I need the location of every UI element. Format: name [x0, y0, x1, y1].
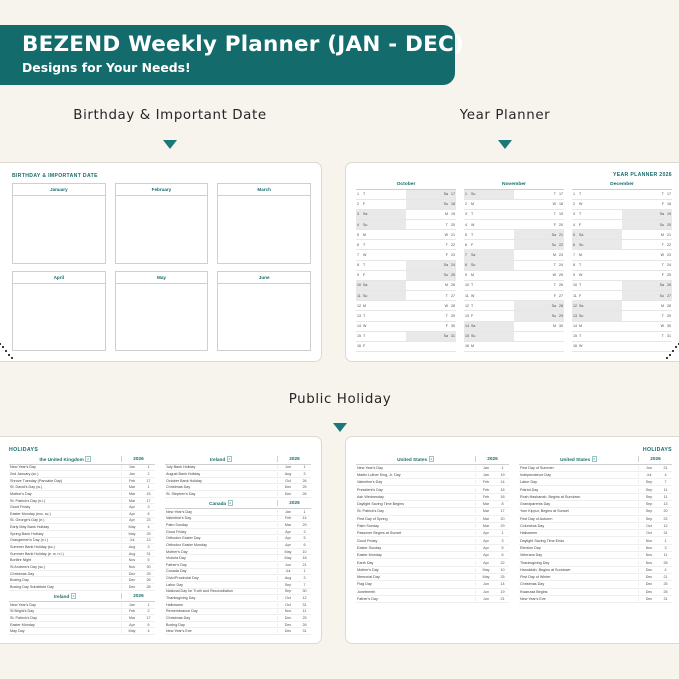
holiday-row[interactable]: Daylight Saving Time BeginsMar8 — [356, 501, 509, 508]
year-planner-day-cell[interactable]: 3T — [464, 210, 514, 219]
holiday-row[interactable]: President's DayFeb16 — [356, 486, 509, 493]
year-planner-day-cell[interactable]: 9F — [356, 271, 406, 280]
day-number: 28 — [556, 304, 563, 308]
year-planner-day-row[interactable]: 3TT19 — [464, 210, 564, 220]
holiday-name: Good Friday — [9, 505, 121, 509]
year-planner-day-cell[interactable]: 11F — [572, 291, 622, 300]
holiday-date: Dec4 — [638, 568, 672, 572]
year-planner-day-row[interactable]: 6TT22 — [356, 240, 456, 250]
year-planner-day-row[interactable]: 13TT29 — [356, 311, 456, 321]
holiday-date: Aug31 — [121, 552, 155, 556]
holiday-month: Feb — [476, 495, 496, 499]
year-planner-day-cell[interactable]: Su20 — [622, 220, 672, 229]
year-planner-day-cell[interactable]: M30 — [514, 322, 564, 331]
holiday-row[interactable]: St. Patrick's Day (n.i.)Mar17 — [9, 498, 155, 505]
holiday-row[interactable]: New Year's DayJan1 — [165, 509, 311, 516]
year-planner-day-row[interactable]: 12MW28 — [356, 301, 456, 311]
holiday-row[interactable]: New Year's EveDec31 — [519, 596, 672, 603]
year-planner-day-cell[interactable]: 6F — [464, 240, 514, 249]
holiday-row[interactable]: July Bank HolidayJun1 — [165, 465, 311, 472]
holiday-month: Jun — [476, 597, 496, 601]
holiday-date: Aug3 — [121, 545, 155, 549]
year-planner-day-cell[interactable]: Su29 — [514, 311, 564, 320]
year-planner-day-cell[interactable]: T27 — [406, 291, 456, 300]
holiday-row[interactable]: New Year's DayJan1 — [9, 465, 155, 472]
holiday-row[interactable]: Labor DaySep7 — [165, 582, 311, 589]
holiday-row[interactable]: St. David's Day (w.)Mar1 — [9, 484, 155, 491]
holidays-table-header: United States42026 — [356, 456, 509, 465]
holiday-day: 31 — [298, 603, 311, 607]
holiday-row[interactable]: HalloweenOct31 — [165, 602, 311, 609]
year-planner-day-cell[interactable]: M23 — [514, 250, 564, 259]
year-planner-day-cell[interactable]: 4Su — [356, 220, 406, 229]
year-planner-day-row[interactable]: 9WF25 — [572, 271, 672, 281]
weekday-abbrev: Sa — [471, 253, 478, 257]
year-planner-day-cell[interactable]: 3Sa — [356, 210, 406, 219]
birthday-month-cell[interactable]: May — [115, 271, 209, 352]
holiday-day: 5 — [496, 546, 509, 550]
year-planner-day-row[interactable]: 15TT31 — [572, 332, 672, 342]
holiday-row[interactable]: New Year's DayJan1 — [9, 602, 155, 609]
holiday-month: Nov — [639, 539, 659, 543]
year-planner-day-cell[interactable]: Su25 — [406, 271, 456, 280]
weekday-abbrev: Su — [363, 223, 370, 227]
year-planner-month-column: December1TT172WF183TSa194FSu205SaM216SuT… — [572, 182, 672, 352]
holiday-day: 6 — [142, 512, 155, 516]
holiday-row[interactable]: Good FridayApr3 — [9, 504, 155, 511]
year-planner-day-row[interactable]: 7SaM23 — [464, 250, 564, 260]
year-planner-day-row[interactable]: 9MW25 — [464, 271, 564, 281]
holiday-row[interactable]: Shrove Tuesday (Pancake Day)Feb17 — [9, 478, 155, 485]
holiday-row[interactable]: Grandparents DaySep13 — [519, 501, 672, 508]
year-planner-day-cell[interactable]: 8T — [572, 261, 622, 270]
year-planner-day-row[interactable]: 5SaM21 — [572, 230, 672, 240]
year-planner-day-row[interactable]: 1TSa17 — [356, 190, 456, 200]
year-planner-day-cell[interactable]: Sa26 — [622, 281, 672, 290]
holiday-row[interactable]: First Day of SummerJun21 — [519, 465, 672, 472]
holiday-row[interactable]: Columbus DayOct12 — [519, 523, 672, 530]
year-planner-day-row[interactable]: 3SaM19 — [356, 210, 456, 220]
year-planner-day-row[interactable]: 12TSa28 — [464, 301, 564, 311]
year-planner-day-row[interactable]: 16W — [572, 342, 672, 352]
year-planner-day-cell[interactable]: T17 — [622, 190, 672, 199]
holiday-date: Apr6 — [475, 553, 509, 557]
holiday-row[interactable]: Yom Kippur, Begins at SunsetSep20 — [519, 508, 672, 515]
year-planner-day-row[interactable]: 4FSu20 — [572, 220, 672, 230]
holiday-date: Feb17 — [121, 479, 155, 483]
year-planner-day-cell[interactable]: 5T — [464, 230, 514, 239]
year-planner-day-row[interactable]: 14MW30 — [572, 322, 672, 332]
holiday-row[interactable]: First Day of WinterDec21 — [519, 574, 672, 581]
holiday-row[interactable]: Patriot DaySep11 — [519, 486, 672, 493]
holiday-row[interactable]: Canada DayJul1 — [165, 569, 311, 576]
holiday-row[interactable]: Ash WednesdayFeb18 — [356, 494, 509, 501]
holiday-row[interactable]: Thanksgiving DayNov26 — [519, 559, 672, 566]
year-planner-day-cell[interactable]: Sa19 — [622, 210, 672, 219]
year-planner-day-cell[interactable]: 15T — [356, 332, 406, 341]
holiday-row[interactable]: Mother's DayMay10 — [165, 549, 311, 556]
weekday-abbrev: Su — [579, 314, 586, 318]
year-planner-day-cell[interactable]: F25 — [622, 271, 672, 280]
holiday-row[interactable]: Orthodox Easter MondayApr6 — [165, 542, 311, 549]
year-planner-day-row[interactable]: 9FSu25 — [356, 271, 456, 281]
year-planner-day-cell[interactable]: 1Su — [464, 190, 514, 199]
year-planner-day-cell[interactable]: W18 — [514, 200, 564, 209]
holiday-name: Remembrance Day — [165, 609, 277, 613]
year-planner-day-cell[interactable]: T24 — [622, 261, 672, 270]
holiday-name: First Day of Summer — [519, 466, 638, 470]
year-planner-day-row[interactable]: 10TSa26 — [572, 281, 672, 291]
year-planner-day-cell[interactable]: 4F — [572, 220, 622, 229]
holiday-date: Nov26 — [638, 561, 672, 565]
year-planner-day-cell[interactable]: 14Sa — [464, 322, 514, 331]
year-planner-day-row[interactable]: 16M — [464, 342, 564, 352]
holiday-name: Kwanzaa Begins — [519, 590, 638, 594]
year-planner-day-cell[interactable]: W21 — [406, 230, 456, 239]
year-planner-day-cell[interactable]: 6T — [356, 240, 406, 249]
year-planner-day-cell[interactable]: 15T — [572, 332, 622, 341]
year-planner-day-cell[interactable]: W28 — [406, 301, 456, 310]
year-planner-day-cell[interactable]: Sa21 — [514, 230, 564, 239]
weekday-abbrev: Su — [363, 294, 370, 298]
holiday-row[interactable]: Earth DayApr22 — [356, 559, 509, 566]
holiday-date: Jan1 — [121, 465, 155, 469]
holiday-row[interactable]: First Day of SpringMar20 — [356, 516, 509, 523]
year-planner-day-cell[interactable]: F27 — [514, 291, 564, 300]
holiday-month: Feb — [122, 609, 142, 613]
year-planner-day-cell[interactable]: 5M — [356, 230, 406, 239]
year-planner-day-row[interactable]: 1TT17 — [572, 190, 672, 200]
holiday-row[interactable]: Father's DayJun21 — [356, 596, 509, 603]
holiday-row[interactable]: Father's DayJun21 — [165, 562, 311, 569]
year-planner-day-row[interactable]: 7MW23 — [572, 250, 672, 260]
holiday-row[interactable]: St. Patrick's DayMar17 — [356, 508, 509, 515]
year-planner-day-cell[interactable]: Su27 — [622, 291, 672, 300]
year-planner-day-cell[interactable]: 8T — [356, 261, 406, 270]
holiday-date: Dec25 — [277, 616, 311, 620]
year-planner-day-cell[interactable]: 13Su — [572, 311, 622, 320]
holiday-row[interactable]: Mother's DayMay10 — [356, 567, 509, 574]
year-planner-day-cell[interactable] — [514, 332, 564, 341]
holiday-row[interactable]: Christmas DayDec25 — [519, 581, 672, 588]
holiday-row[interactable]: May DayMay4 — [9, 628, 155, 635]
holiday-row[interactable]: St. Stephen's DayDec26 — [165, 491, 311, 498]
year-planner-day-cell[interactable]: Su18 — [406, 200, 456, 209]
year-planner-day-cell[interactable]: F18 — [622, 200, 672, 209]
holiday-row[interactable]: Spring Bank HolidayMay25 — [9, 531, 155, 538]
holiday-row[interactable]: Boxing Day Substitute DayDec28 — [9, 584, 155, 591]
holiday-date: Sep20 — [638, 509, 672, 513]
year-planner-day-cell[interactable] — [514, 342, 564, 351]
holiday-row[interactable]: Passover Begins at SunsetApr1 — [356, 530, 509, 537]
birthday-month-cell[interactable]: June — [217, 271, 311, 352]
holiday-row[interactable]: Orthodox Easter DayApr5 — [165, 535, 311, 542]
year-planner-day-cell[interactable]: 1T — [356, 190, 406, 199]
year-planner-day-cell[interactable]: 12Sa — [572, 301, 622, 310]
year-planner-day-row[interactable]: 11SuT27 — [356, 291, 456, 301]
year-planner-day-cell[interactable]: W25 — [514, 271, 564, 280]
year-planner-day-cell[interactable]: 3T — [572, 210, 622, 219]
year-planner-day-cell[interactable]: 13T — [356, 311, 406, 320]
holiday-date: Jan1 — [121, 603, 155, 607]
weekday-abbrev: Sa — [440, 192, 448, 196]
holiday-row[interactable]: Palm SundayMar29 — [356, 523, 509, 530]
year-planner-day-cell[interactable]: 9M — [464, 271, 514, 280]
year-planner-day-cell[interactable]: Sa17 — [406, 190, 456, 199]
year-planner-day-row[interactable]: 8TSa24 — [356, 261, 456, 271]
year-planner-day-cell[interactable]: M21 — [622, 230, 672, 239]
holiday-month: Apr — [278, 543, 298, 547]
holiday-row[interactable]: Good FridayApr3 — [165, 529, 311, 536]
holiday-day: 26 — [659, 590, 672, 594]
year-planner-day-row[interactable]: 1SuT17 — [464, 190, 564, 200]
holiday-row[interactable]: New Year's EveDec31 — [165, 628, 311, 635]
holiday-row[interactable]: Kwanzaa BeginsDec26 — [519, 589, 672, 596]
year-planner-day-cell[interactable]: Sa28 — [514, 301, 564, 310]
holiday-row[interactable]: Palm SundayMar29 — [165, 522, 311, 529]
holiday-date: Sep30 — [277, 589, 311, 593]
year-planner-day-row[interactable]: 5MW21 — [356, 230, 456, 240]
holiday-month: May — [278, 556, 298, 560]
year-planner-day-cell[interactable]: 15Su — [464, 332, 514, 341]
year-planner-day-cell[interactable]: F20 — [514, 220, 564, 229]
year-planner-day-cell[interactable]: Sa24 — [406, 261, 456, 270]
holiday-name: Boxing Day — [9, 578, 121, 582]
holiday-day: 17 — [142, 479, 155, 483]
holiday-row[interactable]: Victoria DayMay18 — [165, 555, 311, 562]
year-planner-day-cell[interactable]: T17 — [514, 190, 564, 199]
holiday-date: Oct12 — [638, 524, 672, 528]
year-planner-day-cell[interactable]: W23 — [622, 250, 672, 259]
holiday-row[interactable]: Easter MondayApr6 — [356, 552, 509, 559]
holiday-row[interactable]: JuneteenthJun19 — [356, 589, 509, 596]
holiday-name: New Year's Eve — [165, 629, 277, 633]
year-planner-day-cell[interactable]: 2F — [356, 200, 406, 209]
holiday-day: 3 — [142, 505, 155, 509]
year-planner-day-cell[interactable]: Su22 — [514, 240, 564, 249]
holiday-row[interactable]: Labor DaySep7 — [519, 479, 672, 486]
holiday-row[interactable]: 2nd January (sc.)Jan2 — [9, 471, 155, 478]
holiday-row[interactable]: Rosh Hashanah, Begins at SundownSep11 — [519, 494, 672, 501]
year-planner-day-cell[interactable]: M28 — [622, 301, 672, 310]
holiday-date: Apr5 — [475, 546, 509, 550]
holiday-name: October Bank Holiday — [165, 479, 277, 483]
birthday-month-cell[interactable]: March — [217, 183, 311, 264]
year-planner-day-row[interactable]: 11WF27 — [464, 291, 564, 301]
holiday-row[interactable]: St. George's Day (e.)Apr23 — [9, 518, 155, 525]
year-planner-day-cell[interactable]: M26 — [406, 281, 456, 290]
holiday-row[interactable]: August Bank HolidayAug3 — [165, 471, 311, 478]
year-planner-day-row[interactable]: 3TSa19 — [572, 210, 672, 220]
holiday-row[interactable]: Boxing DayDec26 — [9, 577, 155, 584]
year-planner-day-cell[interactable]: 2M — [464, 200, 514, 209]
holiday-row[interactable]: October Bank HolidayOct26 — [165, 478, 311, 485]
holiday-row[interactable]: Summer Bank Holiday (sc.)Aug3 — [9, 544, 155, 551]
year-planner-day-cell[interactable]: 13F — [464, 311, 514, 320]
holiday-row[interactable]: Flag DayJun14 — [356, 581, 509, 588]
year-planner-day-row[interactable]: 13SuT29 — [572, 311, 672, 321]
year-planner-day-row[interactable]: 14WF30 — [356, 322, 456, 332]
weekday-abbrev: F — [548, 294, 556, 298]
holiday-row[interactable]: St. Patrick's DayMar17 — [9, 615, 155, 622]
year-planner-day-cell[interactable]: 5Sa — [572, 230, 622, 239]
holiday-day: 18 — [496, 495, 509, 499]
year-planner-day-row[interactable]: 6SuT22 — [572, 240, 672, 250]
year-planner-day-row[interactable]: 2WF18 — [572, 200, 672, 210]
year-planner-day-cell[interactable]: T31 — [622, 332, 672, 341]
holiday-row[interactable]: Thanksgiving DayOct12 — [165, 595, 311, 602]
year-planner-day-cell[interactable]: 4W — [464, 220, 514, 229]
holiday-day: 5 — [298, 536, 311, 540]
holiday-day: 13 — [142, 538, 155, 542]
holiday-row[interactable]: St Andrew's Day (sc.)Nov30 — [9, 564, 155, 571]
year-planner-day-cell[interactable]: F30 — [406, 322, 456, 331]
year-planner-day-cell[interactable] — [622, 342, 672, 351]
weekday-abbrev: M — [471, 202, 478, 206]
holiday-row[interactable]: Independence DayJul4 — [519, 472, 672, 479]
year-planner-day-cell[interactable]: M19 — [406, 210, 456, 219]
holiday-month: Mar — [122, 499, 142, 503]
year-planner-day-cell[interactable]: F23 — [406, 250, 456, 259]
holiday-row[interactable]: Christmas DayDec25 — [9, 571, 155, 578]
holiday-row[interactable]: Memorial DayMay25 — [356, 574, 509, 581]
holiday-row[interactable]: Early May Bank HolidayMay4 — [9, 524, 155, 531]
holiday-row[interactable]: Christmas DayDec25 — [165, 615, 311, 622]
year-planner-day-cell[interactable]: T26 — [514, 281, 564, 290]
year-planner-day-row[interactable]: 11FSu27 — [572, 291, 672, 301]
birthday-month-cell[interactable]: February — [115, 183, 209, 264]
birthday-month-cell[interactable]: April — [12, 271, 106, 352]
year-planner-day-row[interactable]: 16F — [356, 342, 456, 352]
holiday-date: May25 — [475, 575, 509, 579]
day-number: 30 — [448, 324, 455, 328]
year-planner-day-cell[interactable]: 10T — [572, 281, 622, 290]
birthday-month-label: January — [13, 184, 105, 196]
holidays-page-right: HOLIDAYS United States42026New Year's Da… — [345, 436, 679, 644]
year-planner-day-cell[interactable]: 11W — [464, 291, 514, 300]
arrow-down-birthday — [163, 140, 177, 149]
year-planner-day-row[interactable]: 13FSu29 — [464, 311, 564, 321]
birthday-month-cell[interactable]: January — [12, 183, 106, 264]
year-planner-day-cell[interactable]: 1T — [572, 190, 622, 199]
year-planner-day-cell[interactable]: 8Su — [464, 261, 514, 270]
year-planner-day-row[interactable]: 8TT24 — [572, 261, 672, 271]
year-planner-day-cell[interactable]: Sa31 — [406, 332, 456, 341]
year-planner-day-cell[interactable] — [406, 342, 456, 351]
year-planner-day-cell[interactable]: 11Su — [356, 291, 406, 300]
country-label: Canada3 — [165, 500, 277, 506]
year-planner-day-cell[interactable]: T20 — [406, 220, 456, 229]
year-planner-day-row[interactable]: 15TSa31 — [356, 332, 456, 342]
holiday-row[interactable]: Boxing DayDec26 — [165, 622, 311, 629]
holiday-row[interactable]: Martin Luther King, Jr. DayJan19 — [356, 472, 509, 479]
year-planner-day-cell[interactable]: 6Su — [572, 240, 622, 249]
year-planner-day-cell[interactable]: 14M — [572, 322, 622, 331]
holiday-row[interactable]: Orangemen's Day (n.i.)Jul13 — [9, 538, 155, 545]
holiday-row[interactable]: Hanukkah, Begins at SundownDec4 — [519, 567, 672, 574]
holiday-row[interactable]: National Day for Truth and Reconciliatio… — [165, 589, 311, 596]
year-planner-day-cell[interactable]: 16M — [464, 342, 514, 351]
holiday-row[interactable]: Daylight Saving Time EndsNov1 — [519, 537, 672, 544]
holiday-month: Nov — [639, 561, 659, 565]
holiday-row[interactable]: Veterans DayNov11 — [519, 552, 672, 559]
year-planner-day-cell[interactable]: 7M — [572, 250, 622, 259]
year-planner-day-row[interactable]: 4SuT20 — [356, 220, 456, 230]
year-planner-day-row[interactable]: 5TSa21 — [464, 230, 564, 240]
holiday-date: Sep7 — [638, 480, 672, 484]
year-planner-day-cell[interactable]: T22 — [622, 240, 672, 249]
year-planner-day-row[interactable]: 10SaM26 — [356, 281, 456, 291]
weekday-abbrev: F — [440, 324, 448, 328]
holiday-row[interactable]: Summer Bank Holiday (e. w. n.i.)Aug31 — [9, 551, 155, 558]
year-planner-day-row[interactable]: 2MW18 — [464, 200, 564, 210]
year-planner-day-cell[interactable]: 9W — [572, 271, 622, 280]
year-planner-day-cell[interactable]: 7W — [356, 250, 406, 259]
year-planner-day-cell[interactable]: 14W — [356, 322, 406, 331]
holiday-row[interactable]: HalloweenOct31 — [519, 530, 672, 537]
year-planner-day-cell[interactable]: 7Sa — [464, 250, 514, 259]
holiday-row[interactable]: Easter Monday (exc. sc.)Apr6 — [9, 511, 155, 518]
year-planner-day-row[interactable]: 10TT26 — [464, 281, 564, 291]
year-planner-day-cell[interactable]: 12M — [356, 301, 406, 310]
holiday-row[interactable]: Civic/Provincial DayAug3 — [165, 575, 311, 582]
holiday-row[interactable]: New Year's DayJan1 — [356, 465, 509, 472]
holiday-row[interactable]: Remembrance DayNov11 — [165, 609, 311, 616]
year-planner-day-cell[interactable]: W30 — [622, 322, 672, 331]
year-planner-day-cell[interactable]: T22 — [406, 240, 456, 249]
holiday-row[interactable]: Valentine's DayFeb14 — [356, 479, 509, 486]
holiday-row[interactable]: Easter MondayApr6 — [9, 622, 155, 629]
holiday-row[interactable]: Mother's DayMar15 — [9, 491, 155, 498]
year-planner-day-row[interactable]: 2FSu18 — [356, 200, 456, 210]
year-planner-day-row[interactable]: 4WF20 — [464, 220, 564, 230]
year-planner-day-cell[interactable]: 10Sa — [356, 281, 406, 290]
holiday-row[interactable]: St Brigid's DayFeb2 — [9, 609, 155, 616]
day-number: 30 — [556, 324, 563, 328]
year-planner-day-cell[interactable]: 2W — [572, 200, 622, 209]
holiday-row[interactable]: Easter SundayApr5 — [356, 545, 509, 552]
year-planner-day-cell[interactable]: 16F — [356, 342, 406, 351]
year-planner-day-rows: 1SuT172MW183TT194WF205TSa216FSu227SaM238… — [464, 190, 564, 353]
holiday-month: Apr — [476, 546, 496, 550]
year-planner-day-row[interactable]: 12SaM28 — [572, 301, 672, 311]
day-number: 20 — [664, 223, 671, 227]
weekday-abbrev: T — [363, 263, 370, 267]
year-planner-day-row[interactable]: 15Su — [464, 332, 564, 342]
holiday-row[interactable]: Bonfire NightNov5 — [9, 557, 155, 564]
year-planner-day-cell[interactable]: 10T — [464, 281, 514, 290]
year-planner-day-cell[interactable]: 16W — [572, 342, 622, 351]
weekday-abbrev: W — [548, 202, 556, 206]
year-planner-day-row[interactable]: 8SuT24 — [464, 261, 564, 271]
holiday-date: Oct31 — [277, 603, 311, 607]
year-planner-day-cell[interactable]: T29 — [406, 311, 456, 320]
weekday-abbrev: Sa — [548, 233, 556, 237]
year-planner-day-cell[interactable]: T19 — [514, 210, 564, 219]
year-planner-day-row[interactable]: 6FSu22 — [464, 240, 564, 250]
year-planner-day-row[interactable]: 14SaM30 — [464, 322, 564, 332]
holiday-row[interactable]: First Day of AutumnSep22 — [519, 516, 672, 523]
year-planner-day-row[interactable]: 7WF23 — [356, 250, 456, 260]
holiday-row[interactable]: Christmas DayDec25 — [165, 484, 311, 491]
holiday-date: Jun21 — [475, 597, 509, 601]
year-planner-day-cell[interactable]: T29 — [622, 311, 672, 320]
year-planner-day-cell[interactable]: T24 — [514, 261, 564, 270]
holiday-row[interactable]: Valentine's DayFeb14 — [165, 516, 311, 523]
year-planner-day-cell[interactable]: 12T — [464, 301, 514, 310]
holiday-row[interactable]: Election DayNov3 — [519, 545, 672, 552]
holiday-row[interactable]: Good FridayApr3 — [356, 537, 509, 544]
